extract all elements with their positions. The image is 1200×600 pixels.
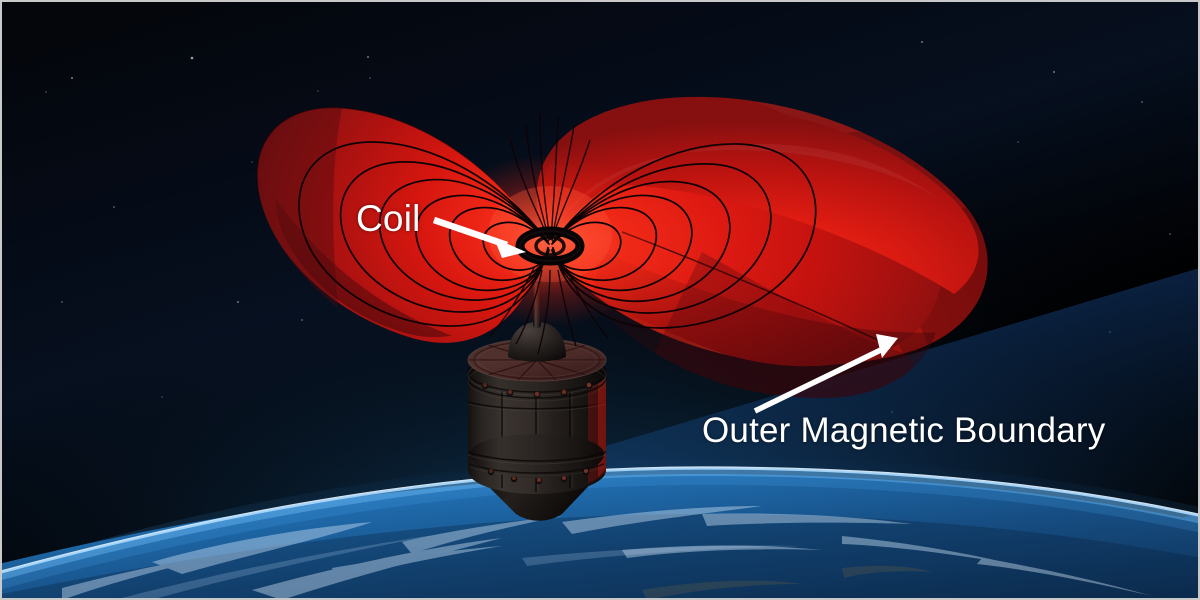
star [1053, 71, 1055, 73]
star [317, 90, 319, 92]
star [1017, 141, 1019, 143]
star [301, 319, 303, 321]
star [45, 91, 47, 93]
star [251, 161, 253, 163]
scene-illustration [2, 2, 1200, 600]
star [113, 206, 115, 208]
star [369, 77, 371, 79]
star [191, 57, 194, 60]
star [71, 77, 73, 79]
star [921, 41, 923, 43]
star [161, 396, 163, 398]
star [1169, 233, 1171, 235]
star [61, 301, 63, 303]
star [1109, 331, 1111, 333]
outer-magnetic-boundary-label: Outer Magnetic Boundary [702, 413, 1105, 448]
diagram-canvas: Coil Outer Magnetic Boundary [0, 0, 1200, 600]
star [1141, 101, 1143, 103]
star [367, 56, 369, 58]
star [237, 301, 239, 303]
coil-label: Coil [356, 200, 421, 237]
